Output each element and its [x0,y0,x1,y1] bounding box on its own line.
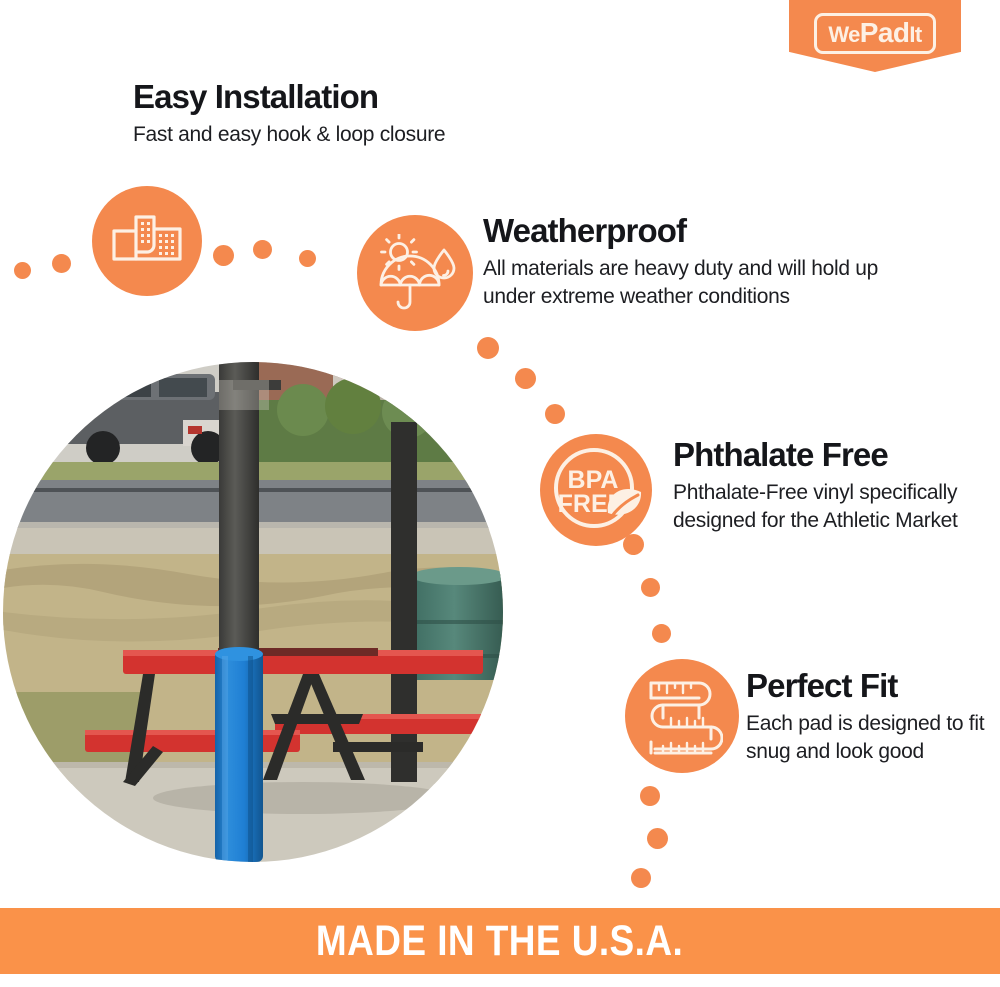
path-dot [52,254,71,273]
feature-title: Easy Installation [133,79,593,115]
feature-description: All materials are heavy duty and will ho… [483,255,913,310]
path-dot [253,240,272,259]
path-dot [477,337,499,359]
brand-banner: WePadIt [789,0,961,72]
path-dot [515,368,536,389]
path-dot [640,786,660,806]
feature-block-weatherproof: Weatherproof All materials are heavy dut… [483,213,913,311]
brand-part-we: We [828,22,859,47]
product-infographic: WePadIt Easy Installation Fast and easy … [0,0,1000,987]
feature-description: Each pad is designed to fit snug and loo… [746,710,996,765]
feature-description: Phthalate-Free vinyl specifically design… [673,479,993,534]
sun-umbrella-raindrop-icon [357,215,473,331]
feature-description: Fast and easy hook & loop closure [133,121,593,149]
made-in-usa-banner: MADE IN THE U.S.A. [0,908,1000,974]
product-photo [3,362,503,862]
feature-title: Phthalate Free [673,437,993,473]
path-dot [641,578,660,597]
feature-block-easy-installation: Easy Installation Fast and easy hook & l… [133,79,593,149]
path-dot [647,828,668,849]
brand-part-it: It [909,22,921,47]
path-dot [213,245,234,266]
feature-block-phthalate-free: Phthalate Free Phthalate-Free vinyl spec… [673,437,993,535]
path-dot [14,262,31,279]
path-dot [631,868,651,888]
feature-title: Perfect Fit [746,668,996,704]
path-dot [652,624,671,643]
path-dot [545,404,565,424]
hook-and-loop-icon [92,186,202,296]
feature-title: Weatherproof [483,213,913,249]
bpa-free-leaf-icon: BPA FREE [540,434,652,546]
brand-logo-text: WePadIt [828,19,921,47]
measuring-tape-icon [625,659,739,773]
made-in-usa-label: MADE IN THE U.S.A. [316,917,683,966]
feature-block-perfect-fit: Perfect Fit Each pad is designed to fit … [746,668,996,766]
path-dot [623,534,644,555]
brand-logo-plate: WePadIt [814,13,935,54]
brand-part-pad: Pad [860,17,910,48]
path-dot [299,250,316,267]
